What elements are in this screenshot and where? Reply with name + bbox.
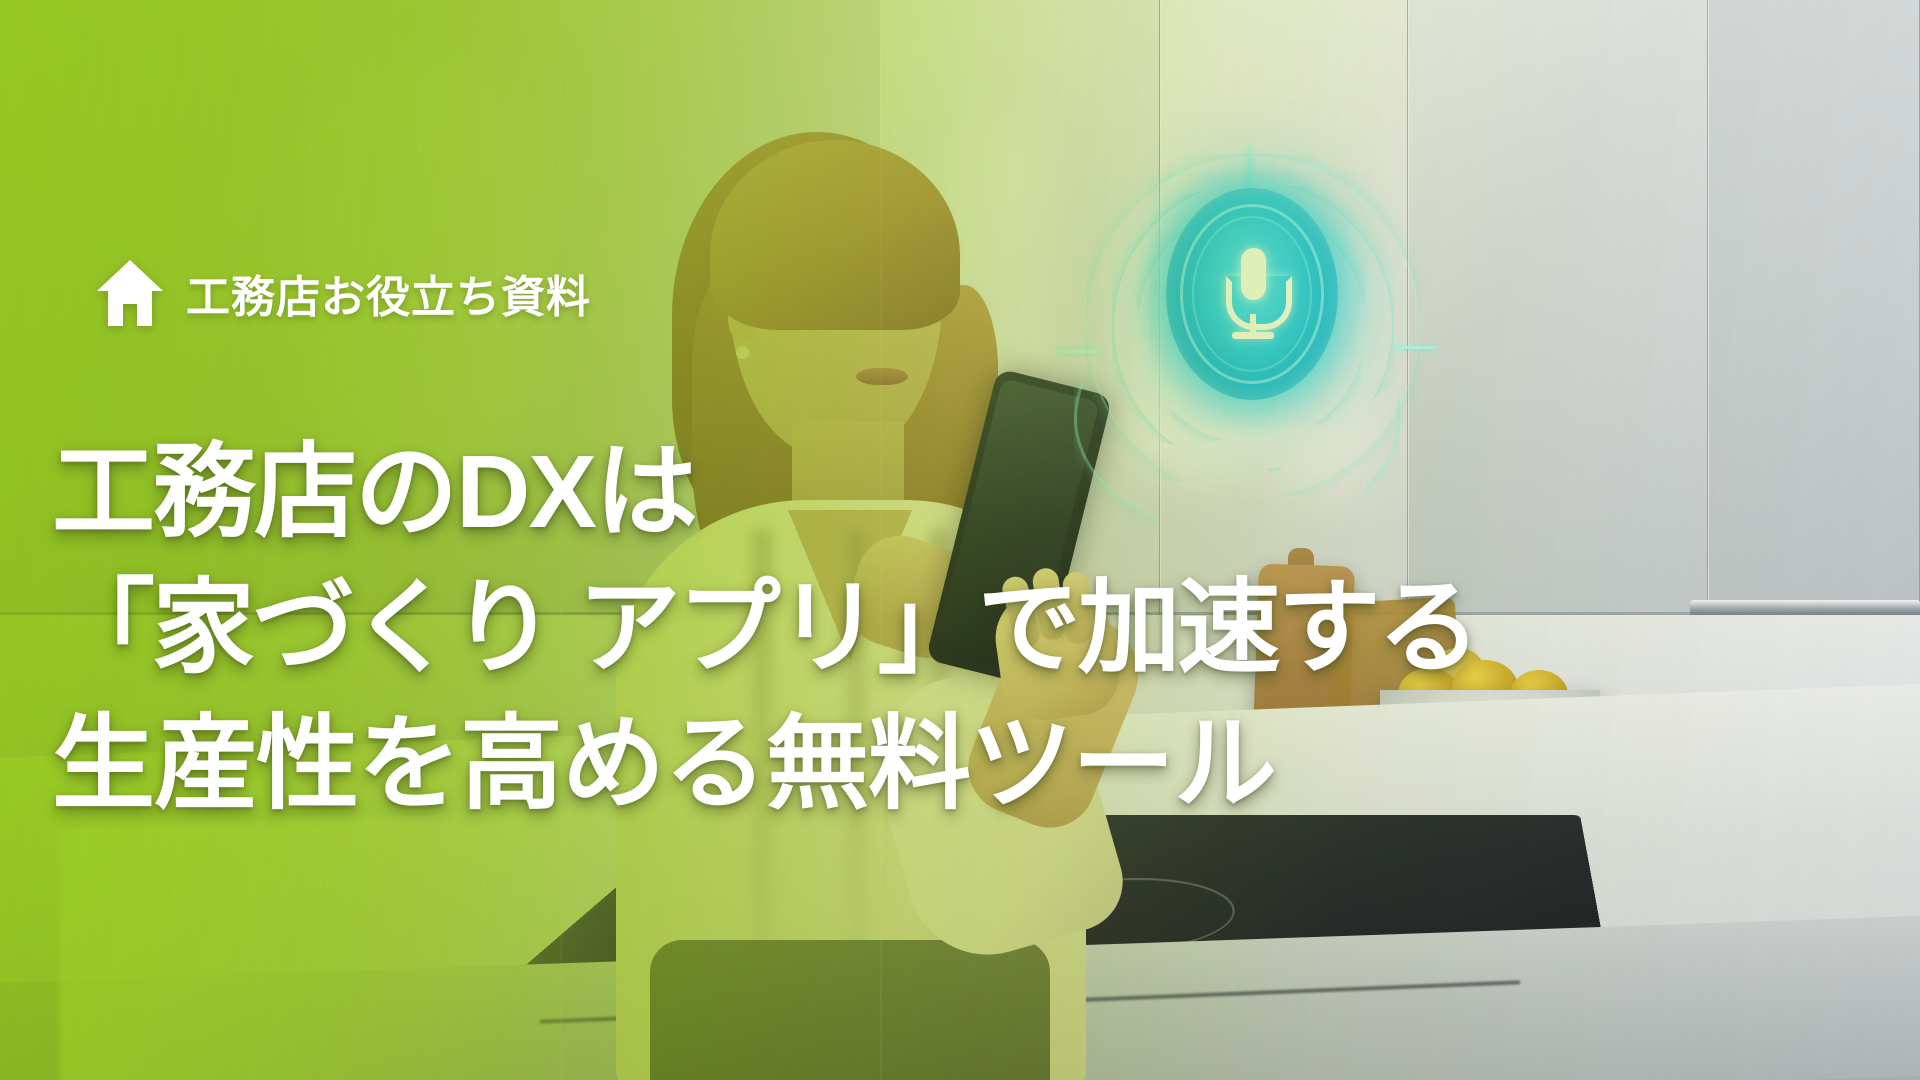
hero-banner: 工務店お役立ち資料 工務店のDXは 「家づくり アプリ」で加速する 生産性を高め… bbox=[0, 0, 1920, 1080]
category-label: 工務店お役立ち資料 bbox=[186, 261, 591, 325]
headline-block: 工務店のDXは 「家づくり アプリ」で加速する 生産性を高める無料ツール bbox=[52, 424, 1612, 832]
house-icon bbox=[96, 258, 164, 328]
headline-line-3: 生産性を高める無料ツール bbox=[52, 696, 1612, 832]
banner-content: 工務店お役立ち資料 工務店のDXは 「家づくり アプリ」で加速する 生産性を高め… bbox=[0, 0, 1920, 1080]
headline-line-1: 工務店のDXは bbox=[52, 424, 1612, 560]
headline-line-2: 「家づくり アプリ」で加速する bbox=[52, 560, 1612, 696]
category-badge: 工務店お役立ち資料 bbox=[96, 258, 591, 328]
